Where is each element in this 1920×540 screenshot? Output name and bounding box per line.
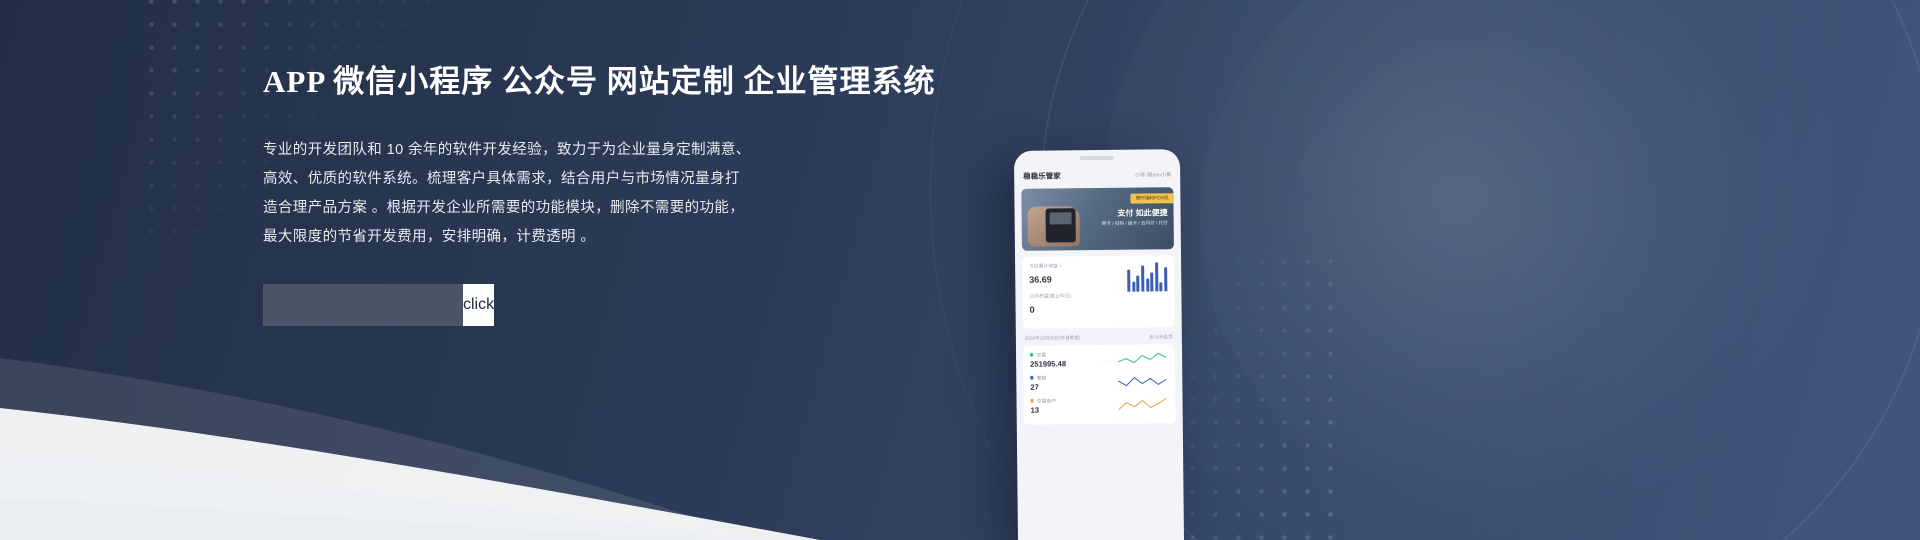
promo-banner[interactable]: 限时福利POS机 支付 如此便捷 刷卡 / 扫码 / 插卡 / 云闪付 / 代付: [1021, 187, 1174, 251]
hero-content: APP 微信小程序 公众号 网站定制 企业管理系统 专业的开发团队和 10 余年…: [263, 58, 903, 326]
phone-speaker: [1014, 149, 1180, 167]
bar: [1137, 276, 1140, 292]
bar: [1146, 278, 1149, 291]
bar: [1164, 267, 1167, 291]
phone-app-header: 稳稳乐管家 小陈-智pos小黄: [1014, 165, 1180, 189]
description-line-2: 高效、优质的软件系统。梳理客户具体需求，结合用户与市场情况量身打: [263, 165, 903, 194]
click-button[interactable]: click: [463, 284, 494, 326]
status-dot-icon: [1031, 399, 1034, 402]
month-label: 11月布益(截止昨日): [1029, 292, 1115, 300]
metric-value: 13: [1031, 405, 1057, 414]
sparkline-chart: [1116, 349, 1168, 368]
app-title: 稳稳乐管家: [1023, 170, 1061, 181]
stats-left: 今日累计收益 > 36.69 11月布益(截止昨日) 0: [1029, 262, 1115, 323]
decorative-glow-mid: [1200, 0, 1760, 500]
today-value: 36.69: [1029, 274, 1052, 284]
metric-label: 笔数: [1030, 374, 1046, 381]
mini-bar-chart: [1127, 261, 1167, 291]
bar: [1127, 270, 1130, 292]
status-dot-icon: [1030, 376, 1033, 379]
today-label: 今日累计收益 >: [1029, 262, 1115, 270]
metric-value: 251995.48: [1030, 359, 1066, 368]
month-value: 0: [1030, 305, 1035, 315]
section-date: 2020年10月05日(外音数据): [1025, 335, 1081, 342]
metric-list: 交易251995.48笔数27交易商户13: [1023, 344, 1176, 425]
bar: [1150, 272, 1153, 291]
today-earnings[interactable]: 今日累计收益 > 36.69: [1029, 262, 1115, 288]
metric-row-left: 笔数27: [1030, 374, 1046, 391]
bar: [1132, 282, 1135, 292]
section-trend-label: 近15天走势: [1149, 334, 1173, 340]
section-header: 2020年10月05日(外音数据) 近15天走势: [1025, 334, 1173, 342]
metric-row[interactable]: 交易商户13: [1030, 395, 1168, 414]
bar: [1155, 262, 1158, 291]
sparkline-chart: [1116, 372, 1168, 391]
metric-label: 交易商户: [1030, 397, 1056, 404]
decorative-glow-small: [1290, 40, 1670, 420]
cta-group: click: [263, 284, 461, 326]
page-title: APP 微信小程序 公众号 网站定制 企业管理系统: [263, 58, 903, 106]
metric-row[interactable]: 交易251995.48: [1030, 349, 1168, 368]
promo-title: 支付 如此便捷: [1102, 207, 1168, 219]
pos-terminal-illustration: [1046, 208, 1076, 242]
app-subtitle: 小陈-智pos小黄: [1135, 171, 1171, 178]
stats-card[interactable]: 今日累计收益 > 36.69 11月布益(截止昨日) 0: [1022, 255, 1175, 329]
promo-ribbon: 限时福利POS机: [1131, 193, 1174, 203]
phone-mockup: 稳稳乐管家 小陈-智pos小黄 限时福利POS机 支付 如此便捷 刷卡 / 扫码…: [1014, 149, 1184, 540]
contact-input[interactable]: [263, 284, 463, 326]
description-line-1: 专业的开发团队和 10 余年的软件开发经验，致力于为企业量身定制满意、: [263, 136, 903, 165]
description-line-3: 造合理产品方案 。根据开发企业所需要的功能模块，删除不需要的功能，: [263, 194, 903, 223]
promo-subtitle: 刷卡 / 扫码 / 插卡 / 云闪付 / 代付: [1102, 220, 1168, 227]
hero-banner: APP 微信小程序 公众号 网站定制 企业管理系统 专业的开发团队和 10 余年…: [0, 0, 1920, 540]
metric-label: 交易: [1030, 351, 1066, 358]
promo-text: 支付 如此便捷 刷卡 / 扫码 / 插卡 / 云闪付 / 代付: [1102, 207, 1168, 227]
decorative-glow-large: [1100, 0, 1860, 540]
description-line-4: 最大限度的节省开发费用，安排明确，计费透明 。: [263, 223, 903, 252]
metric-row[interactable]: 笔数27: [1030, 372, 1168, 391]
hero-description: 专业的开发团队和 10 余年的软件开发经验，致力于为企业量身定制满意、 高效、优…: [263, 136, 903, 252]
sparkline-chart: [1116, 395, 1168, 414]
status-dot-icon: [1030, 353, 1033, 356]
metric-row-left: 交易商户13: [1030, 397, 1056, 414]
metric-value: 27: [1030, 382, 1046, 391]
metric-row-left: 交易251995.48: [1030, 351, 1066, 368]
bar: [1160, 282, 1163, 291]
month-earnings: 11月布益(截止昨日) 0: [1029, 292, 1115, 318]
bar: [1141, 266, 1144, 292]
